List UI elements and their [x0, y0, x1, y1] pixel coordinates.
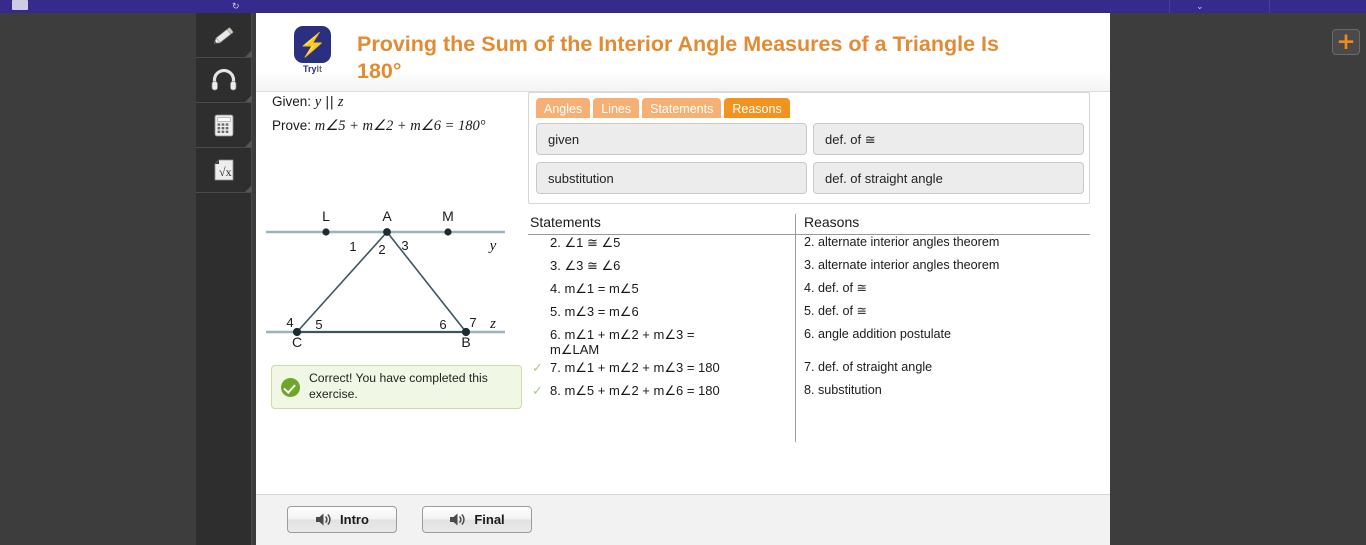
svg-text:5: 5: [315, 317, 322, 332]
table-row: 4. m∠1 = m∠5 4. def. of ≅: [528, 281, 1090, 304]
answer-chip-row-1: given def. of ≅: [536, 123, 1084, 155]
given-line: Given: y || z: [272, 94, 344, 111]
browser-top-bar: ↻ ⌄: [0, 0, 1366, 13]
svg-text:M: M: [442, 208, 454, 224]
prove-label: Prove:: [272, 118, 311, 133]
table-row: 6. m∠1 + m∠2 + m∠3 = m∠LAM 6. angle addi…: [528, 327, 1090, 360]
screen: ↻ ⌄: [0, 0, 1366, 545]
row-check-icon: ✓: [532, 384, 544, 399]
svg-text:y: y: [488, 238, 497, 254]
lesson-footer: Intro Final: [256, 494, 1110, 545]
logo-badge: ⚡: [294, 26, 331, 63]
problem-column: Given: y || z Prove: m∠5 + m∠2 + m∠6 = 1…: [256, 92, 528, 500]
answer-bank: Angles Lines Statements Reasons given de…: [528, 92, 1090, 204]
proof-table: Statements Reasons 2. ∠1 ≅ ∠5 2. alterna…: [528, 214, 1090, 406]
table-row: 5. m∠3 = m∠6 5. def. of ≅: [528, 304, 1090, 327]
proof-rows: 2. ∠1 ≅ ∠5 2. alternate interior angles …: [528, 235, 1090, 406]
answer-chip-substitution[interactable]: substitution: [536, 162, 807, 194]
check-circle-icon: [281, 378, 300, 397]
table-row: ✓ 8. m∠5 + m∠2 + m∠6 = 180 8. substituti…: [528, 383, 1090, 406]
final-audio-label: Final: [474, 512, 504, 527]
svg-text:1: 1: [349, 239, 356, 254]
row-reason[interactable]: 6. angle addition postulate: [804, 327, 1084, 342]
lesson-page: ⚡ TryIt Proving the Sum of the Interior …: [256, 13, 1110, 545]
given-var-y: y: [315, 94, 321, 110]
row-reason[interactable]: 8. substitution: [804, 383, 1084, 398]
tool-formula[interactable]: √x: [196, 148, 252, 193]
browser-tab-1[interactable]: [118, 0, 1170, 13]
answer-chip-def-of-straight-angle[interactable]: def. of straight angle: [813, 162, 1084, 194]
lesson-header: ⚡ TryIt Proving the Sum of the Interior …: [256, 13, 1110, 92]
lightning-bolt-icon: ⚡: [298, 33, 327, 56]
headphones-icon: [209, 65, 239, 95]
answer-chip-def-of-cong[interactable]: def. of ≅: [813, 123, 1084, 155]
add-button[interactable]: +: [1332, 29, 1360, 55]
pencil-icon: [209, 20, 239, 50]
feedback-banner: Correct! You have completed this exercis…: [271, 365, 522, 409]
tab-lines[interactable]: Lines: [593, 98, 639, 118]
row-statement[interactable]: 3. ∠3 ≅ ∠6: [550, 258, 790, 273]
feedback-text: Correct! You have completed this exercis…: [309, 371, 512, 402]
row-reason[interactable]: 2. alternate interior angles theorem: [804, 235, 1084, 250]
tab-statements[interactable]: Statements: [642, 98, 721, 118]
intro-audio-button[interactable]: Intro: [287, 506, 397, 533]
table-row: 3. ∠3 ≅ ∠6 3. alternate interior angles …: [528, 258, 1090, 281]
plus-icon: +: [1336, 32, 1355, 52]
logo-caption: TryIt: [289, 64, 336, 74]
prove-line: Prove: m∠5 + m∠2 + m∠6 = 180°: [272, 118, 486, 135]
proof-column: Angles Lines Statements Reasons given de…: [528, 92, 1110, 500]
given-label: Given:: [272, 94, 311, 109]
row-statement[interactable]: 5. m∠3 = m∠6: [550, 304, 790, 319]
svg-text:6: 6: [439, 317, 446, 332]
tool-calculator[interactable]: [196, 103, 252, 148]
svg-text:2: 2: [378, 242, 385, 257]
formula-icon: √x: [209, 155, 239, 185]
intro-audio-label: Intro: [340, 512, 369, 527]
svg-text:B: B: [461, 334, 470, 347]
tool-pencil[interactable]: [196, 13, 252, 58]
column-header-reasons: Reasons: [804, 214, 859, 230]
row-statement[interactable]: 8. m∠5 + m∠2 + m∠6 = 180: [550, 383, 790, 398]
calculator-icon: [209, 110, 239, 140]
svg-text:C: C: [292, 334, 302, 347]
speaker-icon: [315, 512, 332, 527]
try-it-logo: ⚡ TryIt: [289, 26, 336, 74]
svg-text:3: 3: [401, 238, 408, 253]
prove-expression: m∠5 + m∠2 + m∠6 = 180°: [315, 118, 486, 134]
row-reason[interactable]: 7. def. of straight angle: [804, 360, 1084, 375]
tab-reasons[interactable]: Reasons: [724, 98, 789, 118]
reload-icon[interactable]: ↻: [232, 0, 240, 13]
row-reason[interactable]: 3. alternate interior angles theorem: [804, 258, 1084, 273]
proof-table-header: Statements Reasons: [528, 214, 1090, 235]
triangle-diagram: L A M C B y z 1 2 3 4 5 6: [260, 187, 524, 347]
logo-caption-try: Try: [303, 64, 317, 74]
row-check-icon: ✓: [532, 361, 544, 376]
svg-text:z: z: [489, 316, 496, 332]
svg-text:4: 4: [286, 315, 293, 330]
answer-bank-tabs: Angles Lines Statements Reasons: [536, 98, 790, 118]
row-statement[interactable]: 7. m∠1 + m∠2 + m∠3 = 180: [550, 360, 790, 375]
svg-text:7: 7: [469, 315, 476, 330]
tool-rail: √x: [196, 13, 252, 545]
speaker-icon: [449, 512, 466, 527]
svg-text:A: A: [382, 208, 392, 224]
parallel-symbol: ||: [325, 94, 334, 110]
row-statement[interactable]: 2. ∠1 ≅ ∠5: [550, 235, 790, 250]
column-header-statements: Statements: [530, 214, 601, 230]
row-reason[interactable]: 5. def. of ≅: [804, 304, 1084, 319]
answer-chip-given[interactable]: given: [536, 123, 807, 155]
browser-tab-strip: ↻ ⌄: [0, 0, 1366, 13]
svg-text:L: L: [322, 208, 330, 224]
svg-text:√x: √x: [219, 165, 232, 179]
geometry-figure: L A M C B y z 1 2 3 4 5 6: [260, 187, 524, 347]
final-audio-button[interactable]: Final: [422, 506, 532, 533]
browser-tab-2[interactable]: [1170, 0, 1270, 13]
row-reason[interactable]: 4. def. of ≅: [804, 281, 1084, 296]
row-statement[interactable]: 6. m∠1 + m∠2 + m∠3 = m∠LAM: [550, 327, 720, 357]
row-statement[interactable]: 4. m∠1 = m∠5: [550, 281, 790, 296]
tool-headphones[interactable]: [196, 58, 252, 103]
lesson-body: Given: y || z Prove: m∠5 + m∠2 + m∠6 = 1…: [256, 92, 1110, 500]
tab-angles[interactable]: Angles: [536, 98, 590, 118]
given-var-z: z: [338, 94, 344, 110]
logo-caption-it: It: [317, 64, 323, 74]
table-row: ✓ 7. m∠1 + m∠2 + m∠3 = 180 7. def. of st…: [528, 360, 1090, 383]
table-row: 2. ∠1 ≅ ∠5 2. alternate interior angles …: [528, 235, 1090, 258]
page-title: Proving the Sum of the Interior Angle Me…: [357, 31, 1017, 85]
answer-chip-row-2: substitution def. of straight angle: [536, 162, 1084, 194]
chevron-down-icon[interactable]: ⌄: [1196, 0, 1204, 13]
